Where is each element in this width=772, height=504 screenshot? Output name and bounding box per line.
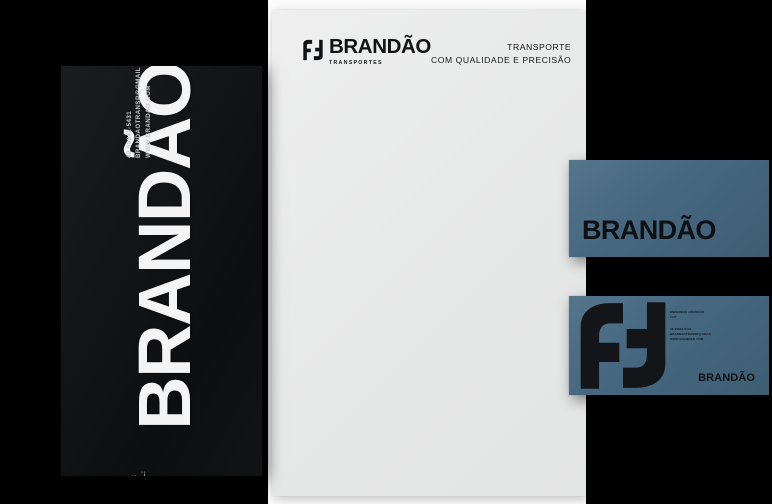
- envelope-contact-block: 49 99942-5431 BRANDAOTRANSP@GMAIL WWW.BR…: [127, 67, 152, 158]
- mockup-canvas: BRANDÃO TRANSPORTES TRANSPORTE COM QUALI…: [0, 0, 772, 504]
- brandao-wave-monogram-icon: [577, 297, 669, 394]
- card-back-contact-group: 49 99942-5431 BRANDAOTRANSP@GMAIL WWW.BR…: [670, 328, 712, 342]
- card-back-details: ENDEREÇO BRANDÃO CEP: 49 99942-5431 BRAN…: [670, 311, 712, 342]
- letterhead-sub-wordmark: TRANSPORTES: [329, 60, 431, 66]
- envelope-label-site: SIT: [151, 471, 158, 476]
- card-back-address-group: ENDEREÇO BRANDÃO CEP:: [670, 311, 712, 320]
- envelope-phone: 49 99942-5431: [127, 67, 134, 158]
- brandao-wave-monogram-icon: [302, 39, 324, 61]
- business-card-front: BRANDÃO: [569, 160, 769, 257]
- letterhead-sheet: BRANDÃO TRANSPORTES TRANSPORTE COM QUALI…: [272, 10, 586, 496]
- card-back-website: WWW.BRANDAO.COM: [670, 338, 712, 342]
- letterhead-brand-lockup: BRANDÃO TRANSPORTES: [302, 37, 431, 66]
- letterhead-tagline: TRANSPORTE COM QUALIDADE E PRECISÃO: [431, 41, 571, 68]
- black-envelope: BRANDÃO 49 99942-5431 BRANDAOTRANSP@GMAI…: [61, 66, 262, 476]
- card-front-wordmark: BRANDÃO: [582, 217, 716, 244]
- envelope-website: WWW.BRANDAO.COM: [146, 67, 153, 158]
- letterhead-wordmark: BRANDÃO: [329, 37, 431, 58]
- tagline-line-2: COM QUALIDADE E PRECISÃO: [431, 54, 571, 67]
- envelope-email: BRANDAOTRANSP@GMAIL: [136, 67, 143, 158]
- envelope-label-mail: MAIL:: [141, 471, 148, 476]
- envelope-label-block: TEL: MAIL: SIT: [132, 471, 157, 476]
- envelope-label-tel: TEL:: [132, 471, 139, 476]
- card-back-wordmark: BRANDÃO: [698, 373, 755, 384]
- business-card-back: ENDEREÇO BRANDÃO CEP: 49 99942-5431 BRAN…: [569, 296, 769, 395]
- tagline-line-1: TRANSPORTE: [431, 41, 571, 54]
